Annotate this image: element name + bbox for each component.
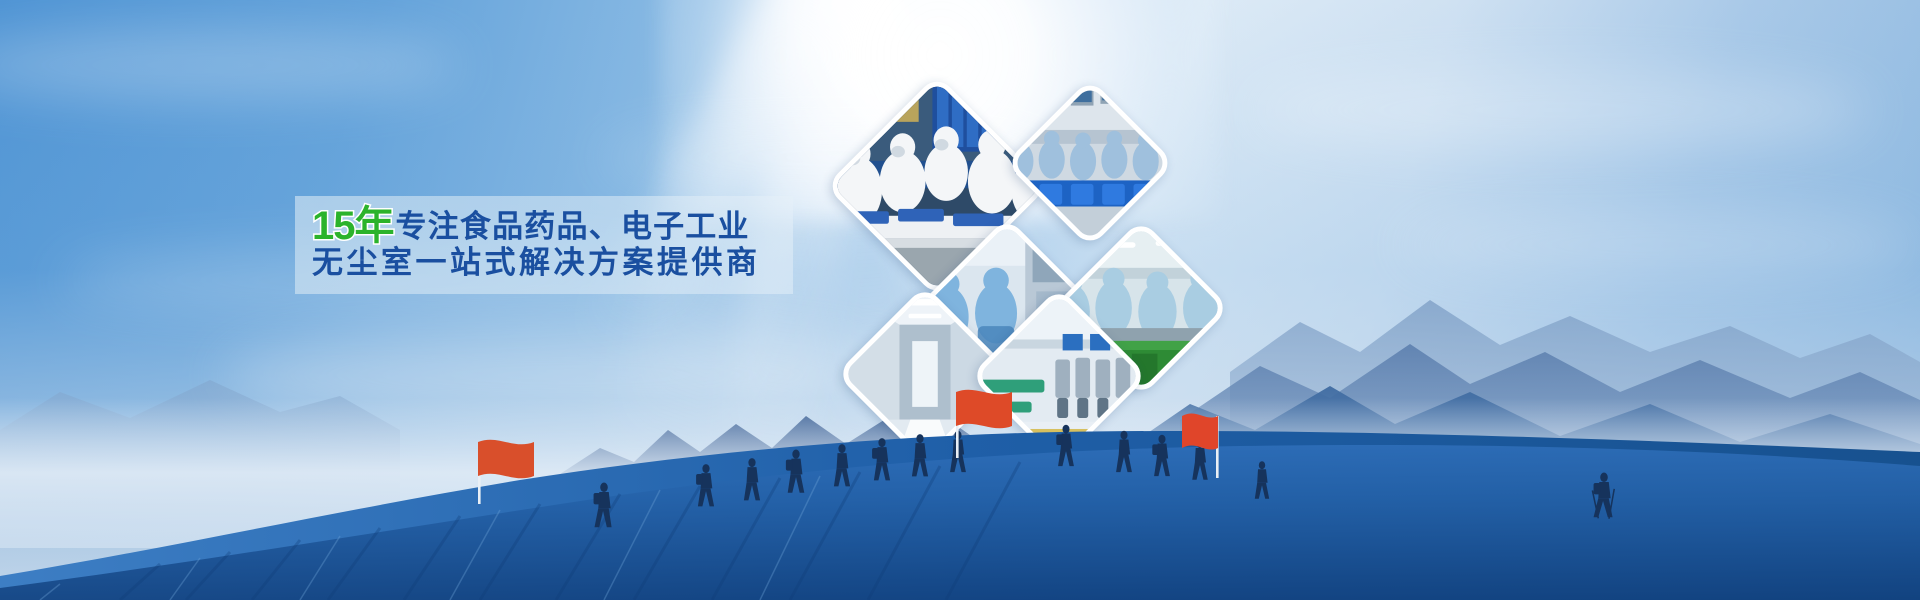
headline-line-2: 无尘室一站式解决方案提供商 bbox=[312, 246, 782, 288]
summit-flags bbox=[0, 300, 1920, 600]
headline-line-1: 15年专注食品药品、电子工业 bbox=[312, 204, 782, 246]
flag-right bbox=[1182, 413, 1219, 478]
years-badge: 15年 bbox=[312, 204, 394, 248]
flag-middle bbox=[956, 390, 1012, 458]
flag-left bbox=[478, 440, 534, 504]
hero-banner: 15年专注食品药品、电子工业 无尘室一站式解决方案提供商 bbox=[0, 0, 1920, 600]
photo-inspection-workstations-image bbox=[1005, 78, 1175, 248]
headline-line-1-text: 专注食品药品、电子工业 bbox=[396, 209, 750, 244]
headline-line-2-text: 无尘室一站式解决方案提供商 bbox=[312, 245, 761, 280]
headline-block: 15年专注食品药品、电子工业 无尘室一站式解决方案提供商 bbox=[312, 204, 782, 288]
photo-inspection-workstations[interactable] bbox=[1005, 78, 1175, 248]
